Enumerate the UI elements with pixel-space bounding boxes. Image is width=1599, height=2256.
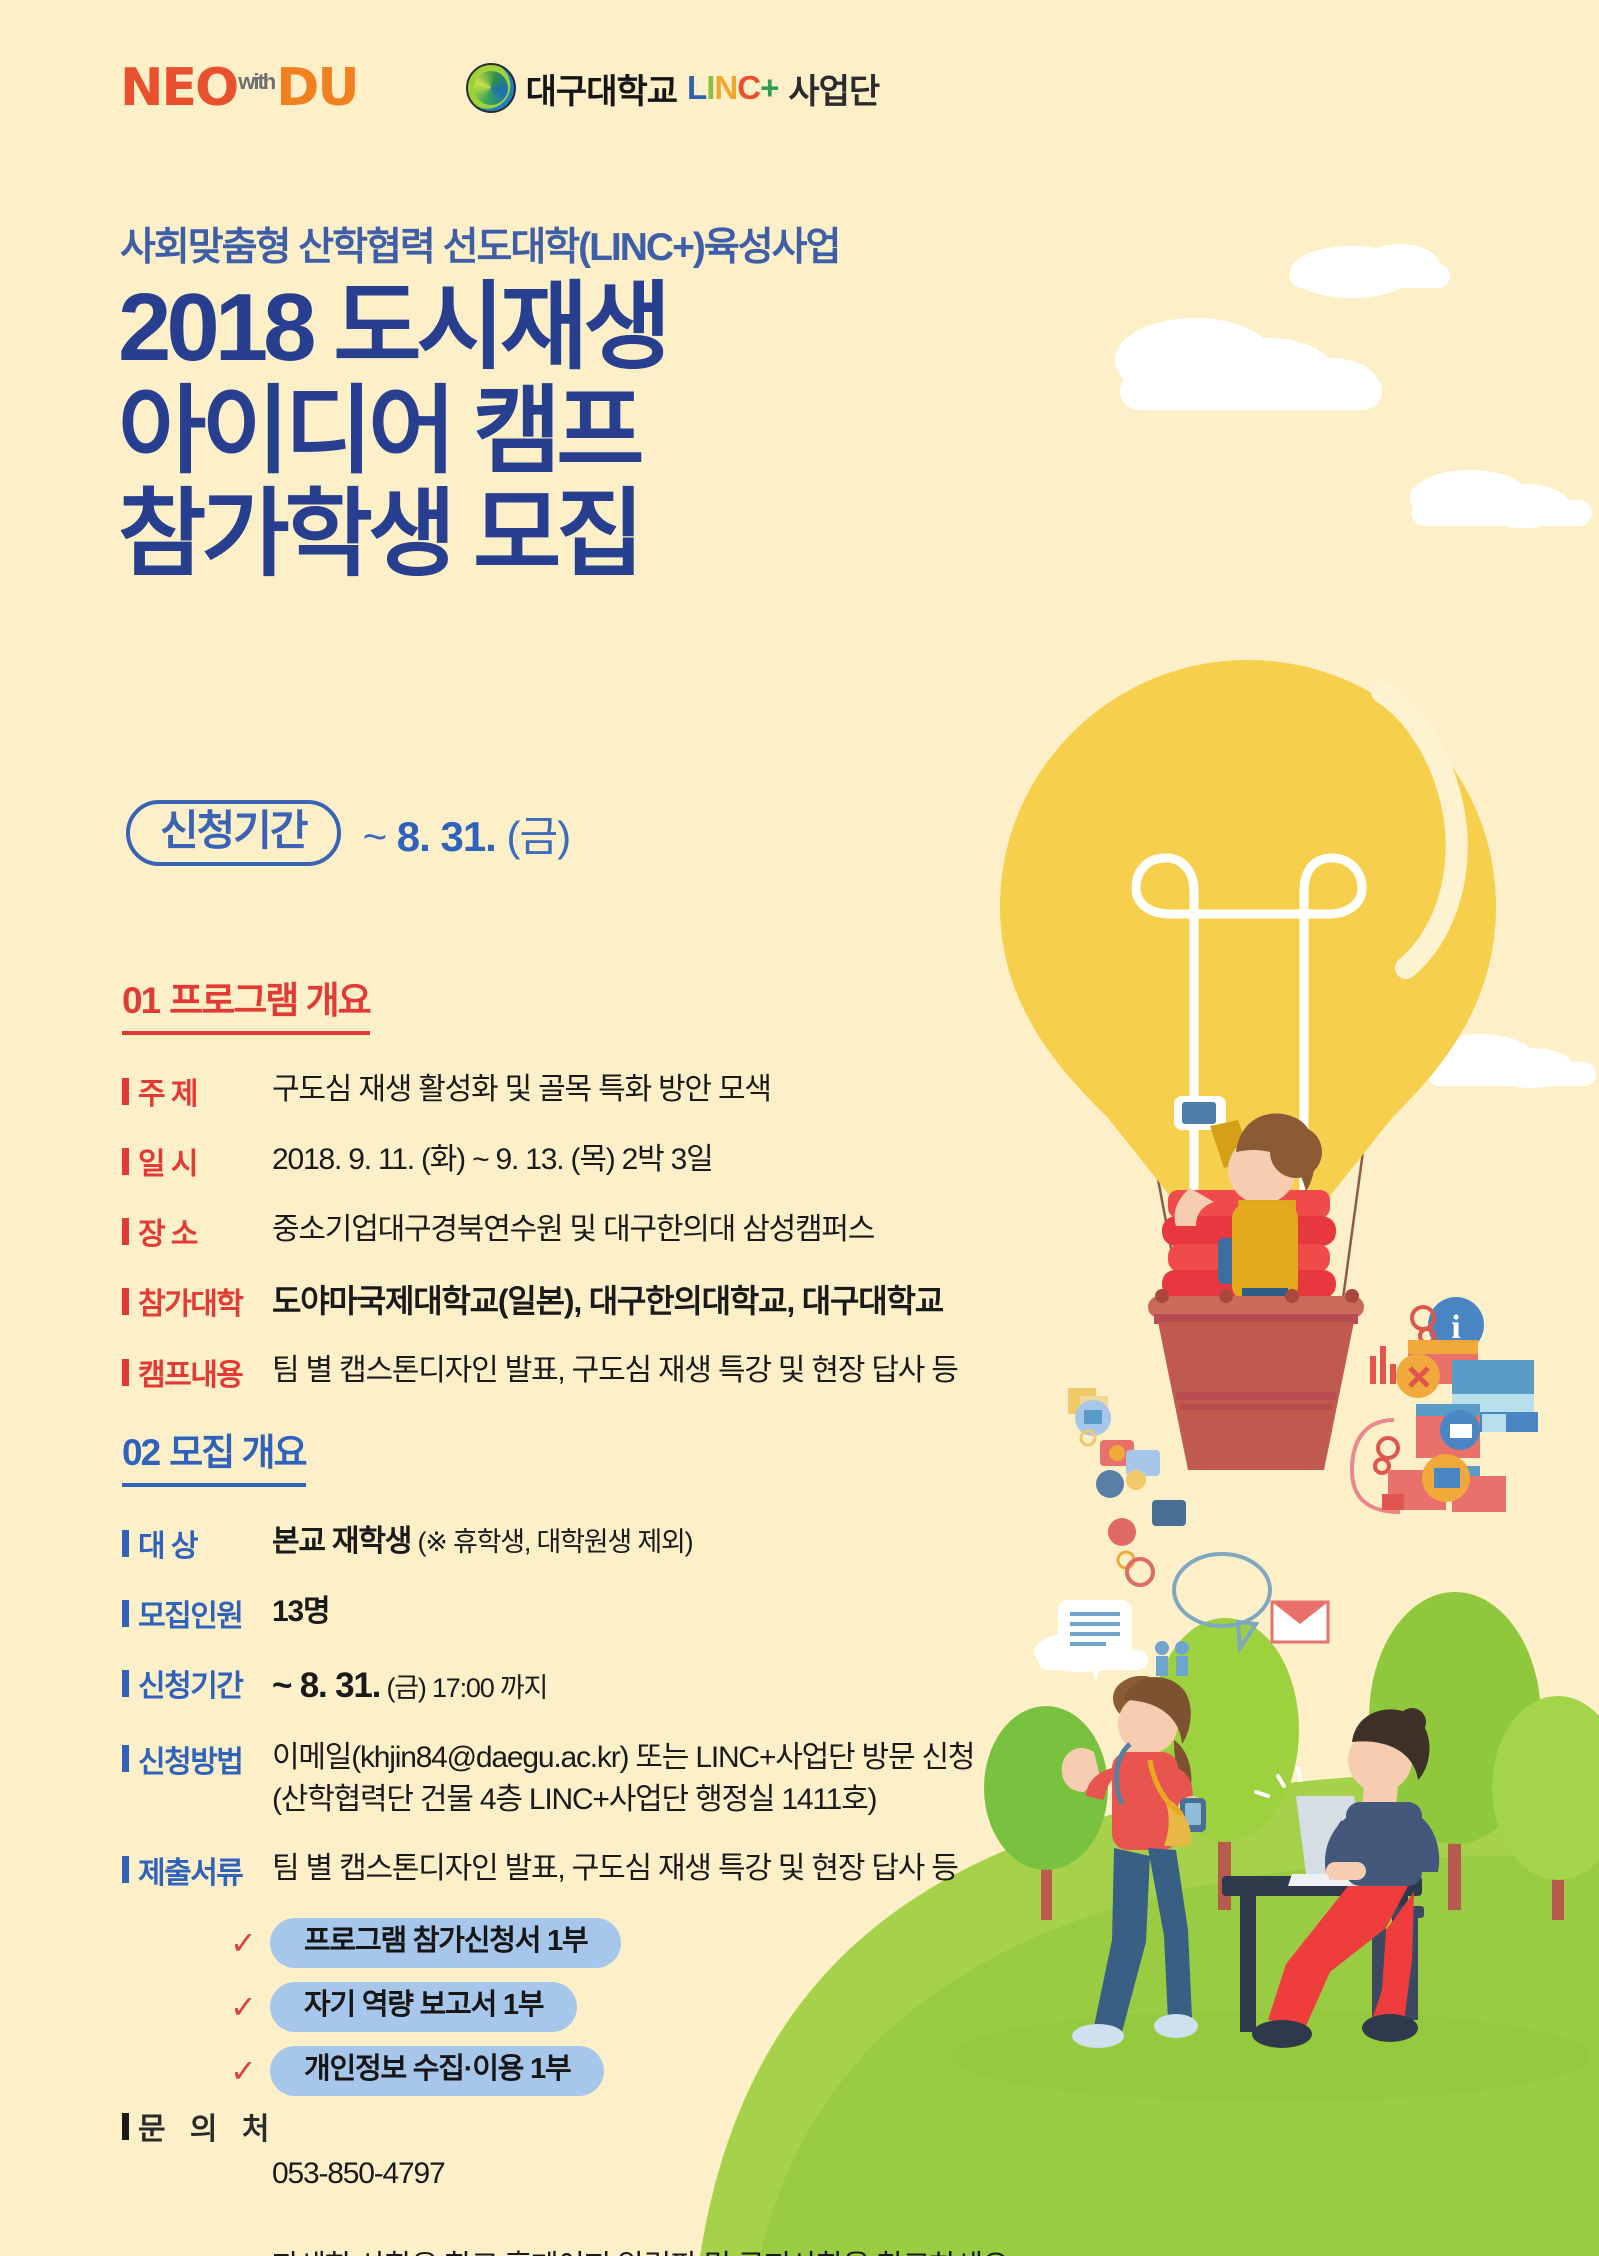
title-line-2: 아이디어 캠프 [118,380,667,484]
label-bar-icon [122,1745,129,1772]
label-bar-icon [122,1148,129,1175]
label-bar-icon [122,1670,129,1697]
program-kicker: 사회맞춤형 산학협력 선도대학(LINC+)육성사업 [120,216,839,272]
value-application-method: 이메일(khjin84@daegu.ac.kr) 또는 LINC+사업단 방문 … [272,1737,974,1822]
label-bar-icon [122,1530,129,1557]
daegu-university-logo: 대구대학교 LINC+ 사업단 [466,63,880,113]
label-target-text: 대 상 [138,1521,197,1565]
value-period-rest: (금) 17:00 까지 [380,1673,547,1703]
value-camp-content: 팀 별 캡스톤디자인 발표, 구도심 재생 특강 및 현장 답사 등 [272,1350,958,1393]
label-capacity-text: 모집인원 [138,1591,242,1635]
university-seal-icon [466,63,516,113]
document-item: ✓ 자기 역량 보고서 1부 [230,1982,974,2032]
neo-logo-text: NEO [120,58,237,118]
row-application-method: 신청방법 이메일(khjin84@daegu.ac.kr) 또는 LINC+사업… [122,1737,974,1822]
check-icon: ✓ [230,2052,270,2090]
title-line-3: 참가학생 모집 [118,483,667,587]
row-participating-universities: 참가대학 도야마국제대학교(일본), 대구한의대학교, 대구대학교 [122,1279,958,1324]
label-datetime: 일 시 [122,1139,272,1183]
label-subject: 주 제 [122,1069,272,1113]
document-label: 프로그램 참가신청서 1부 [270,1918,621,1968]
neo-with-du-logo: NEO with DU [120,58,358,118]
row-datetime: 일 시 2018. 9. 11. (화) ~ 9. 13. (목) 2박 3일 [122,1139,958,1183]
title-line-1: 2018 도시재생 [118,276,667,380]
period-tilde: ~ [363,813,387,860]
page-title: 2018 도시재생 아이디어 캠프 참가학생 모집 [118,276,667,587]
label-universities-text: 참가대학 [138,1279,242,1323]
document-checklist: ✓ 프로그램 참가신청서 1부 ✓ 자기 역량 보고서 1부 ✓ 개인정보 수집… [230,1918,974,2096]
value-capacity: 13명 [272,1591,329,1634]
application-period-badge: 신청기간 ~ 8. 31. (금) [126,800,570,866]
label-contact: 문 의 처 [122,2104,272,2148]
section-program-overview: 01프로그램 개요 주 제 구도심 재생 활성화 및 골목 특화 방안 모색 일… [122,970,958,1420]
document-label: 자기 역량 보고서 1부 [270,1982,577,2032]
check-icon: ✓ [230,1924,270,1962]
value-target-rest: (※ 휴학생, 대학원생 제외) [411,1527,692,1557]
linc-letter-plus: + [760,69,778,107]
linc-letter-c: C [737,69,760,107]
logo-row: NEO with DU 대구대학교 LINC+ 사업단 [120,58,879,118]
label-capacity: 모집인원 [122,1591,272,1635]
label-venue-text: 장 소 [138,1209,197,1253]
document-item: ✓ 프로그램 참가신청서 1부 [230,1918,974,1968]
check-icon: ✓ [230,1988,270,2026]
label-datetime-text: 일 시 [138,1139,197,1183]
section-2-heading: 02모집 개요 [122,1422,306,1487]
contact-note: 자세한 사항은 학교 홈페이지 알림판 및 공지사항을 참고하세요. [272,2250,1015,2256]
row-subject: 주 제 구도심 재생 활성화 및 골목 특화 방안 모색 [122,1069,958,1113]
value-datetime: 2018. 9. 11. (화) ~ 9. 13. (목) 2박 3일 [272,1139,713,1182]
label-bar-icon [122,1359,129,1386]
label-bar-icon [122,1218,129,1245]
linc-suffix-text: 사업단 [788,64,879,113]
label-target: 대 상 [122,1521,272,1565]
row-target: 대 상 본교 재학생 (※ 휴학생, 대학원생 제외) [122,1521,974,1565]
document-label: 개인정보 수집·이용 1부 [270,2046,604,2096]
label-application-method: 신청방법 [122,1737,272,1781]
section-2-number: 02 [122,1432,159,1473]
section-1-heading: 01프로그램 개요 [122,970,370,1035]
value-venue: 중소기업대구경북연수원 및 대구한의대 삼성캠퍼스 [272,1209,874,1252]
label-required-documents-text: 제출서류 [138,1848,242,1892]
label-venue: 장 소 [122,1209,272,1253]
label-camp-content: 캠프내용 [122,1350,272,1394]
label-application-period-text: 신청기간 [138,1661,242,1705]
row-capacity: 모집인원 13명 [122,1591,974,1635]
value-required-documents: 팀 별 캡스톤디자인 발표, 구도심 재생 특강 및 현장 답사 등 [272,1848,958,1891]
period-date: 8. 31. [397,813,496,860]
value-subject: 구도심 재생 활성화 및 골목 특화 방안 모색 [272,1069,771,1112]
value-target-strong: 본교 재학생 [272,1525,411,1558]
value-period-strong: ~ 8. 31. [272,1666,380,1705]
period-label: 신청기간 [126,800,341,866]
value-target: 본교 재학생 (※ 휴학생, 대학원생 제외) [272,1521,692,1564]
label-subject-text: 주 제 [138,1069,197,1113]
section-1-number: 01 [122,980,159,1021]
linc-letter-n: N [714,69,737,107]
label-application-method-text: 신청방법 [138,1737,242,1781]
label-universities: 참가대학 [122,1279,272,1323]
label-bar-icon [122,1856,129,1883]
row-required-documents: 제출서류 팀 별 캡스톤디자인 발표, 구도심 재생 특강 및 현장 답사 등 [122,1848,974,1892]
row-venue: 장 소 중소기업대구경북연수원 및 대구한의대 삼성캠퍼스 [122,1209,958,1253]
label-bar-icon [122,2113,129,2140]
label-application-period: 신청기간 [122,1661,272,1705]
linc-letter-l: L [687,69,706,107]
contact-phone[interactable]: 053-850-4797 [272,2157,444,2190]
label-camp-content-text: 캠프내용 [138,1350,242,1394]
period-day: (금) [507,813,571,860]
section-1-rows: 주 제 구도심 재생 활성화 및 골목 특화 방안 모색 일 시 2018. 9… [122,1069,958,1394]
linc-letter-i: I [706,69,714,107]
period-value: ~ 8. 31. (금) [363,803,571,864]
row-application-period: 신청기간 ~ 8. 31. (금) 17:00 까지 [122,1661,974,1711]
section-2-rows: 대 상 본교 재학생 (※ 휴학생, 대학원생 제외) 모집인원 13명 신청기… [122,1521,974,1892]
value-capacity-strong: 13명 [272,1595,329,1628]
label-bar-icon [122,1600,129,1627]
label-contact-text: 문 의 처 [138,2104,277,2148]
label-bar-icon [122,1288,129,1315]
neo-logo-with: with [238,69,274,95]
value-universities: 도야마국제대학교(일본), 대구한의대학교, 대구대학교 [272,1279,943,1324]
label-bar-icon [122,1078,129,1105]
document-item: ✓ 개인정보 수집·이용 1부 [230,2046,974,2096]
du-logo-text: DU [276,58,357,118]
section-recruitment-overview: 02모집 개요 대 상 본교 재학생 (※ 휴학생, 대학원생 제외) 모집인원… [122,1422,974,2110]
content-layer: NEO with DU 대구대학교 LINC+ 사업단 사회맞춤형 산학협력 선… [0,0,1599,2256]
label-required-documents: 제출서류 [122,1848,272,1892]
section-2-title: 모집 개요 [169,1432,305,1473]
contact-block: 문 의 처 053-850-4797 자세한 사항은 학교 홈페이지 알림판 및… [122,2104,1015,2256]
row-camp-content: 캠프내용 팀 별 캡스톤디자인 발표, 구도심 재생 특강 및 현장 답사 등 [122,1350,958,1394]
section-1-title: 프로그램 개요 [169,980,370,1021]
contact-details: 053-850-4797 자세한 사항은 학교 홈페이지 알림판 및 공지사항을… [272,2104,1015,2256]
university-name: 대구대학교 [526,64,677,113]
linc-plus-logo: LINC+ [687,69,778,107]
poster-root: i [0,0,1599,2256]
value-application-period: ~ 8. 31. (금) 17:00 까지 [272,1661,547,1711]
